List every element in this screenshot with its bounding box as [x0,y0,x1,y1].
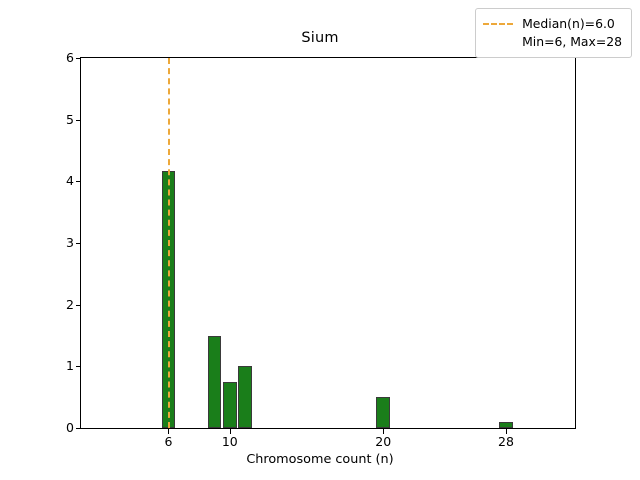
x-tick-label: 6 [148,436,188,449]
median-line-layer [81,58,575,428]
x-axis-label: Chromosome count (n) [0,452,640,467]
y-tick-label: 6 [48,52,74,65]
y-tick-mark [76,243,82,244]
x-tick-label: 10 [210,436,250,449]
y-tick-label: 5 [48,113,74,126]
y-tick-mark [76,305,82,306]
legend-label-median: Median(n)=6.0 [522,15,615,33]
x-tick-mark [230,428,231,434]
y-tick-mark [76,366,82,367]
x-tick-label: 28 [486,436,526,449]
y-tick-label: 1 [48,360,74,373]
y-tick-mark [76,181,82,182]
median-line [168,58,170,428]
dashed-line-icon [483,23,513,25]
y-tick-mark [76,58,82,59]
legend-label-minmax: Min=6, Max=28 [522,33,622,51]
y-tick-mark [76,120,82,121]
chart-figure: Sium 01234566102028 Normalized num of co… [0,0,640,480]
x-tick-label: 20 [363,436,403,449]
x-tick-mark [506,428,507,434]
x-tick-mark [383,428,384,434]
y-tick-label: 3 [48,237,74,250]
y-tick-label: 4 [48,175,74,188]
y-tick-label: 0 [48,422,74,435]
blank-swatch-icon [483,41,513,43]
chart-legend: Median(n)=6.0 Min=6, Max=28 [475,8,632,58]
y-tick-label: 2 [48,298,74,311]
y-tick-mark [76,428,82,429]
legend-item-median: Median(n)=6.0 [483,15,622,33]
legend-item-minmax: Min=6, Max=28 [483,33,622,51]
x-tick-mark [168,428,169,434]
plot-area: 01234566102028 [80,57,576,429]
